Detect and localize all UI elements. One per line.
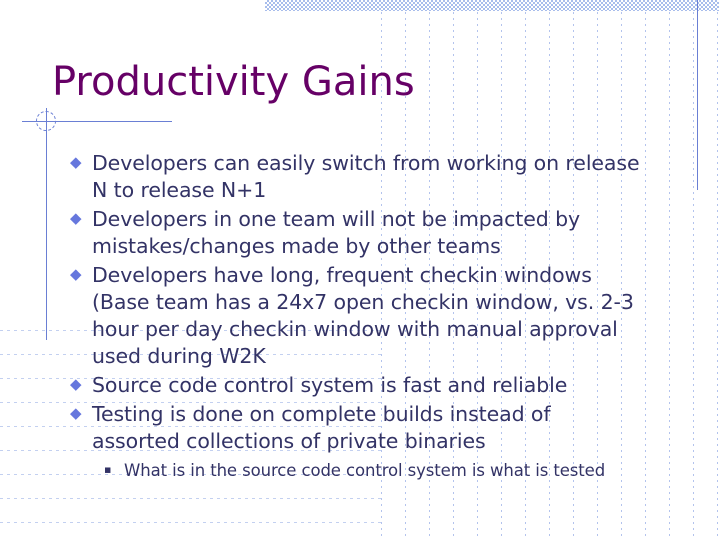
- list-item-text: Developers in one team will not be impac…: [92, 206, 580, 260]
- list-item-line: Developers can easily switch from workin…: [92, 150, 639, 177]
- list-item-line: Developers have long, frequent checkin w…: [92, 262, 634, 289]
- square-bullet-icon: ▪: [104, 459, 124, 483]
- list-item: ◆Developers have long, frequent checkin …: [66, 262, 686, 370]
- list-item: ◆Developers can easily switch from worki…: [66, 150, 686, 204]
- list-item-line: Testing is done on complete builds inste…: [92, 401, 550, 428]
- list-item-line: assorted collections of private binaries: [92, 428, 550, 455]
- diamond-bullet-icon: ◆: [66, 401, 92, 428]
- list-item-line: hour per day checkin window with manual …: [92, 316, 634, 343]
- list-item-line: Developers in one team will not be impac…: [92, 206, 580, 233]
- list-item-text: Source code control system is fast and r…: [92, 372, 567, 399]
- list-item-text: What is in the source code control syste…: [124, 459, 605, 483]
- list-item-line: N to release N+1: [92, 177, 639, 204]
- list-item-text: Developers have long, frequent checkin w…: [92, 262, 634, 370]
- slide-canvas: Productivity Gains ◆Developers can easil…: [0, 0, 719, 539]
- diamond-bullet-icon: ◆: [66, 150, 92, 177]
- sub-list-item: ▪What is in the source code control syst…: [104, 459, 686, 483]
- list-item: ◆Testing is done on complete builds inst…: [66, 401, 686, 455]
- checkered-band: [265, 0, 719, 11]
- diamond-bullet-icon: ◆: [66, 262, 92, 289]
- crosshair-vertical-line: [46, 108, 47, 340]
- crosshair-circle-icon: [36, 111, 56, 131]
- list-item-line: used during W2K: [92, 343, 634, 370]
- bullet-list: ◆Developers can easily switch from worki…: [66, 150, 686, 483]
- diamond-bullet-icon: ◆: [66, 206, 92, 233]
- list-item: ◆Developers in one team will not be impa…: [66, 206, 686, 260]
- list-item-line: Source code control system is fast and r…: [92, 372, 567, 399]
- list-item-line: (Base team has a 24x7 open checkin windo…: [92, 289, 634, 316]
- list-item: ◆Source code control system is fast and …: [66, 372, 686, 399]
- diamond-bullet-icon: ◆: [66, 372, 92, 399]
- list-item-text: Testing is done on complete builds inste…: [92, 401, 550, 455]
- list-item-line: mistakes/changes made by other teams: [92, 233, 580, 260]
- list-item-text: Developers can easily switch from workin…: [92, 150, 639, 204]
- page-title: Productivity Gains: [52, 58, 415, 106]
- list-item-line: What is in the source code control syste…: [124, 459, 605, 483]
- right-accent-line: [697, 0, 698, 190]
